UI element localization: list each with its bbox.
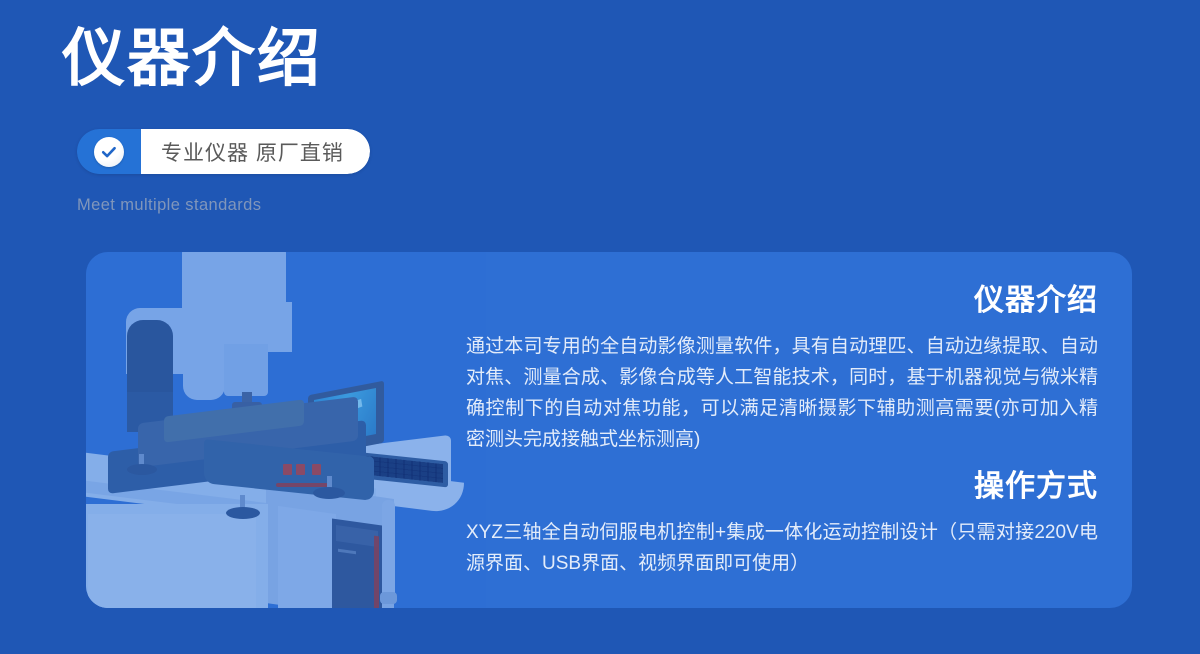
subtitle-en: Meet multiple standards [77, 196, 261, 215]
content-panel: 仪器介绍 通过本司专用的全自动影像测量软件，具有自动理匹、自动边缘提取、自动对焦… [86, 252, 1132, 608]
vision-measuring-machine-photo [86, 252, 486, 608]
badge-label: 专业仪器 原厂直销 [141, 129, 370, 174]
section-heading: 仪器介绍 [466, 284, 1098, 317]
section-instrument-intro: 仪器介绍 通过本司专用的全自动影像测量软件，具有自动理匹、自动边缘提取、自动对焦… [466, 284, 1098, 455]
page-title: 仪器介绍 [62, 28, 322, 91]
badge-icon-wrap [77, 129, 141, 174]
section-operation-mode: 操作方式 XYZ三轴全自动伺服电机控制+集成一体化运动控制设计（只需对接220V… [466, 470, 1098, 579]
section-body: XYZ三轴全自动伺服电机控制+集成一体化运动控制设计（只需对接220V电源界面、… [466, 517, 1098, 579]
badge: 专业仪器 原厂直销 [77, 129, 370, 174]
check-circle-icon [94, 137, 124, 167]
section-heading: 操作方式 [466, 470, 1098, 503]
section-body: 通过本司专用的全自动影像测量软件，具有自动理匹、自动边缘提取、自动对焦、测量合成… [466, 331, 1098, 455]
